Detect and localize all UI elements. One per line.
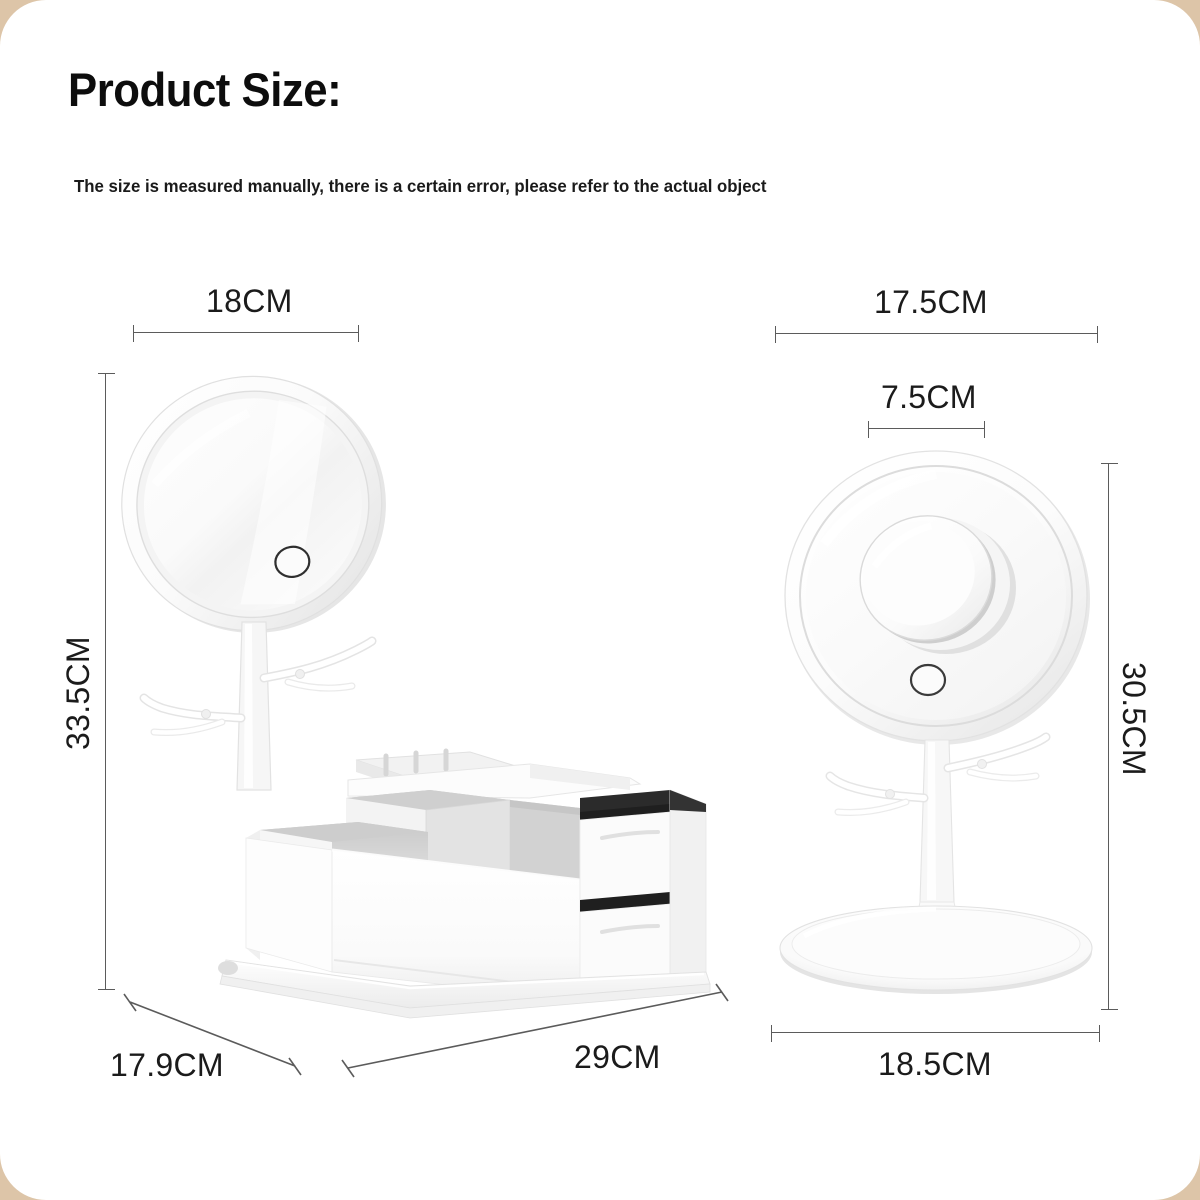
- dimension-label-mirror-width-right: 17.5CM: [874, 284, 988, 321]
- dimension-label-total-height-right: 30.5CM: [1115, 662, 1152, 776]
- product-illustration-mirror-magnifier: [770, 450, 1110, 1030]
- dimension-label-base-width-right: 18.5CM: [878, 1046, 992, 1083]
- dimension-line-magnifier-width: [868, 428, 985, 429]
- dimension-label-mirror-width-left: 18CM: [206, 283, 293, 320]
- dimension-label-base-width-left: 29CM: [574, 1039, 661, 1076]
- dimension-line-mirror-width-right: [775, 333, 1098, 334]
- mirror-touch-button-right: [911, 665, 945, 695]
- product-size-card: Product Size: The size is measured manua…: [0, 0, 1200, 1200]
- dimension-label-base-depth-left: 17.9CM: [110, 1047, 224, 1084]
- dimension-line-base-width-right: [771, 1032, 1100, 1033]
- dimension-line-total-height-left: [105, 373, 106, 990]
- product-illustration-mirror-organizer: [110, 360, 750, 1030]
- dimension-line-total-height-right: [1108, 463, 1109, 1010]
- dimension-line-mirror-width-left: [133, 332, 359, 333]
- measurement-disclaimer: The size is measured manually, there is …: [74, 176, 767, 197]
- dimension-label-magnifier-width: 7.5CM: [881, 379, 977, 416]
- dimension-label-total-height-left: 33.5CM: [60, 636, 97, 750]
- page-title: Product Size:: [68, 62, 341, 117]
